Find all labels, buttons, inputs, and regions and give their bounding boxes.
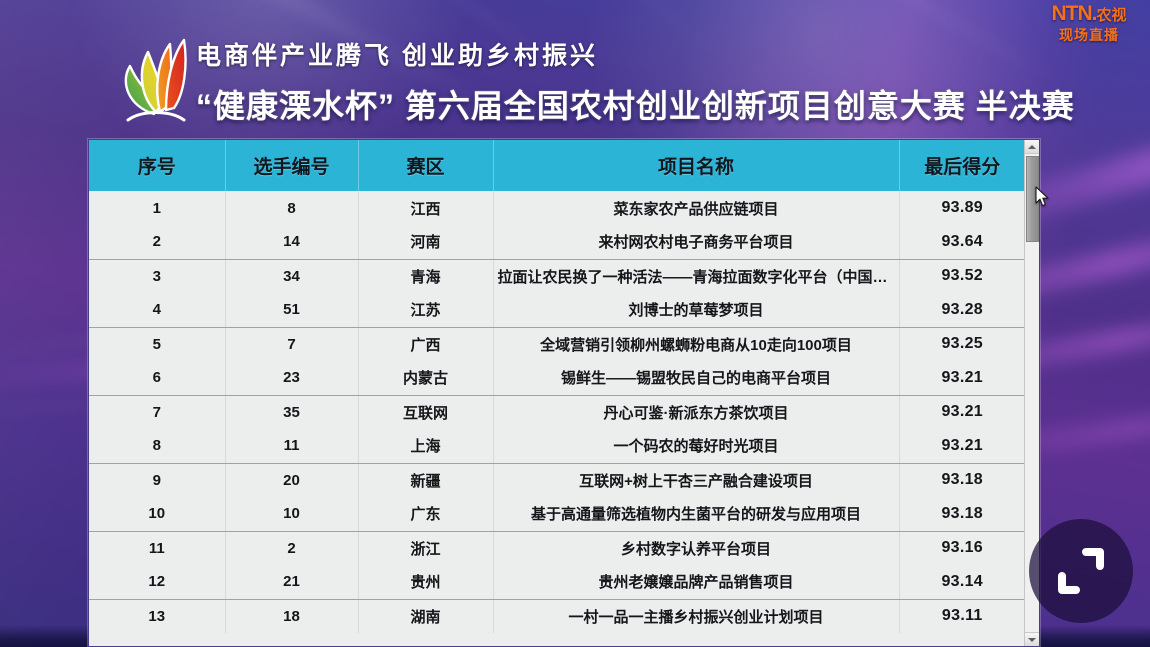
row-score: 93.21 [899,395,1025,429]
row-region: 江苏 [358,293,493,327]
row-region: 湖南 [358,599,493,633]
row-score: 93.14 [899,565,1025,599]
row-index: 3 [89,259,225,293]
row-index: 9 [89,463,225,497]
flame-leaf-logo-icon [118,26,194,130]
scroll-down-arrow-icon[interactable] [1025,632,1039,646]
scrollbar-thumb[interactable] [1026,156,1039,242]
row-score: 93.21 [899,429,1025,463]
column-header-project[interactable]: 项目名称 [493,140,899,191]
row-number: 11 [225,429,358,463]
row-project: 锡鲜生——锡盟牧民自己的电商平台项目 [493,361,899,395]
row-project: 贵州老嬢嬢品牌产品销售项目 [493,565,899,599]
row-score: 93.64 [899,225,1025,259]
row-index: 4 [89,293,225,327]
row-region: 广西 [358,327,493,361]
table-row[interactable]: 920新疆互联网+树上干杏三产融合建设项目93.18 [89,463,1025,497]
table-body: 18江西菜东家农产品供应链项目93.89214河南来村网农村电子商务平台项目93… [89,191,1025,633]
scroll-up-arrow-icon[interactable] [1025,140,1039,154]
row-index: 1 [89,191,225,225]
row-project: 互联网+树上干杏三产融合建设项目 [493,463,899,497]
row-region: 内蒙古 [358,361,493,395]
row-score: 93.25 [899,327,1025,361]
row-index: 5 [89,327,225,361]
row-project: 乡村数字认养平台项目 [493,531,899,565]
row-number: 2 [225,531,358,565]
table-row[interactable]: 811上海一个码农的莓好时光项目93.21 [89,429,1025,463]
row-number: 21 [225,565,358,599]
row-project: 全域营销引领柳州螺蛳粉电商从10走向100项目 [493,327,899,361]
table-header-row: 序号 选手编号 赛区 项目名称 最后得分 [89,140,1025,191]
table-row[interactable]: 1010广东基于高通量筛选植物内生菌平台的研发与应用项目93.18 [89,497,1025,531]
title-block: 电商伴产业腾飞 创业助乡村振兴 “健康溧水杯” 第六届全国农村创业创新项目创意大… [196,36,1056,127]
row-number: 10 [225,497,358,531]
row-region: 新疆 [358,463,493,497]
table-row[interactable]: 18江西菜东家农产品供应链项目93.89 [89,191,1025,225]
row-project: 来村网农村电子商务平台项目 [493,225,899,259]
broadcast-header: 电商伴产业腾飞 创业助乡村振兴 “健康溧水杯” 第六届全国农村创业创新项目创意大… [0,18,1150,134]
row-score: 93.16 [899,531,1025,565]
row-index: 8 [89,429,225,463]
results-table-panel: 序号 选手编号 赛区 项目名称 最后得分 18江西菜东家农产品供应链项目93.8… [88,139,1040,647]
row-project: 一个码农的莓好时光项目 [493,429,899,463]
table-row[interactable]: 735互联网丹心可鉴·新派东方茶饮项目93.21 [89,395,1025,429]
table-row[interactable]: 57广西全域营销引领柳州螺蛳粉电商从10走向100项目93.25 [89,327,1025,361]
row-number: 8 [225,191,358,225]
row-project: 菜东家农产品供应链项目 [493,191,899,225]
column-header-number[interactable]: 选手编号 [225,140,358,191]
row-region: 广东 [358,497,493,531]
row-index: 13 [89,599,225,633]
row-score: 93.89 [899,191,1025,225]
row-score: 93.18 [899,463,1025,497]
row-region: 青海 [358,259,493,293]
event-title: “健康溧水杯” 第六届全国农村创业创新项目创意大赛 半决赛 [196,81,1056,127]
row-index: 12 [89,565,225,599]
row-index: 11 [89,531,225,565]
channel-live-bug: NTN.农视 现场直播 [1036,2,1142,50]
row-region: 上海 [358,429,493,463]
live-label: 现场直播 [1036,27,1142,44]
row-score: 93.28 [899,293,1025,327]
table-row[interactable]: 112浙江乡村数字认养平台项目93.16 [89,531,1025,565]
channel-brand-cn: 农视 [1096,7,1126,24]
row-project: 丹心可鉴·新派东方茶饮项目 [493,395,899,429]
table-row[interactable]: 623内蒙古锡鲜生——锡盟牧民自己的电商平台项目93.21 [89,361,1025,395]
row-number: 14 [225,225,358,259]
column-header-index[interactable]: 序号 [89,140,225,191]
row-project: 一村一品一主播乡村振兴创业计划项目 [493,599,899,633]
channel-brand-latin: NTN. [1051,2,1096,25]
row-number: 20 [225,463,358,497]
row-region: 浙江 [358,531,493,565]
row-number: 18 [225,599,358,633]
row-region: 江西 [358,191,493,225]
table-row[interactable]: 214河南来村网农村电子商务平台项目93.64 [89,225,1025,259]
fullscreen-expand-button[interactable] [1029,519,1133,623]
column-header-region[interactable]: 赛区 [358,140,493,191]
row-score: 93.21 [899,361,1025,395]
row-project: 拉面让农民换了一种活法——青海拉面数字化平台（中国拉… [493,259,899,293]
fullscreen-expand-icon [1056,546,1106,596]
row-number: 34 [225,259,358,293]
table-row[interactable]: 451江苏刘博士的草莓梦项目93.28 [89,293,1025,327]
row-region: 互联网 [358,395,493,429]
table-row[interactable]: 1221贵州贵州老嬢嬢品牌产品销售项目93.14 [89,565,1025,599]
row-region: 河南 [358,225,493,259]
row-score: 93.11 [899,599,1025,633]
event-subtitle: 电商伴产业腾飞 创业助乡村振兴 [196,36,1056,72]
row-index: 7 [89,395,225,429]
channel-brand: NTN.农视 [1036,2,1142,27]
row-number: 7 [225,327,358,361]
table-row[interactable]: 334青海拉面让农民换了一种活法——青海拉面数字化平台（中国拉…93.52 [89,259,1025,293]
results-table: 序号 选手编号 赛区 项目名称 最后得分 18江西菜东家农产品供应链项目93.8… [89,140,1025,633]
row-number: 35 [225,395,358,429]
row-number: 51 [225,293,358,327]
row-project: 基于高通量筛选植物内生菌平台的研发与应用项目 [493,497,899,531]
row-number: 23 [225,361,358,395]
row-score: 93.18 [899,497,1025,531]
row-region: 贵州 [358,565,493,599]
table-row[interactable]: 1318湖南一村一品一主播乡村振兴创业计划项目93.11 [89,599,1025,633]
row-index: 10 [89,497,225,531]
row-index: 6 [89,361,225,395]
row-score: 93.52 [899,259,1025,293]
row-project: 刘博士的草莓梦项目 [493,293,899,327]
column-header-score[interactable]: 最后得分 [899,140,1025,191]
row-index: 2 [89,225,225,259]
